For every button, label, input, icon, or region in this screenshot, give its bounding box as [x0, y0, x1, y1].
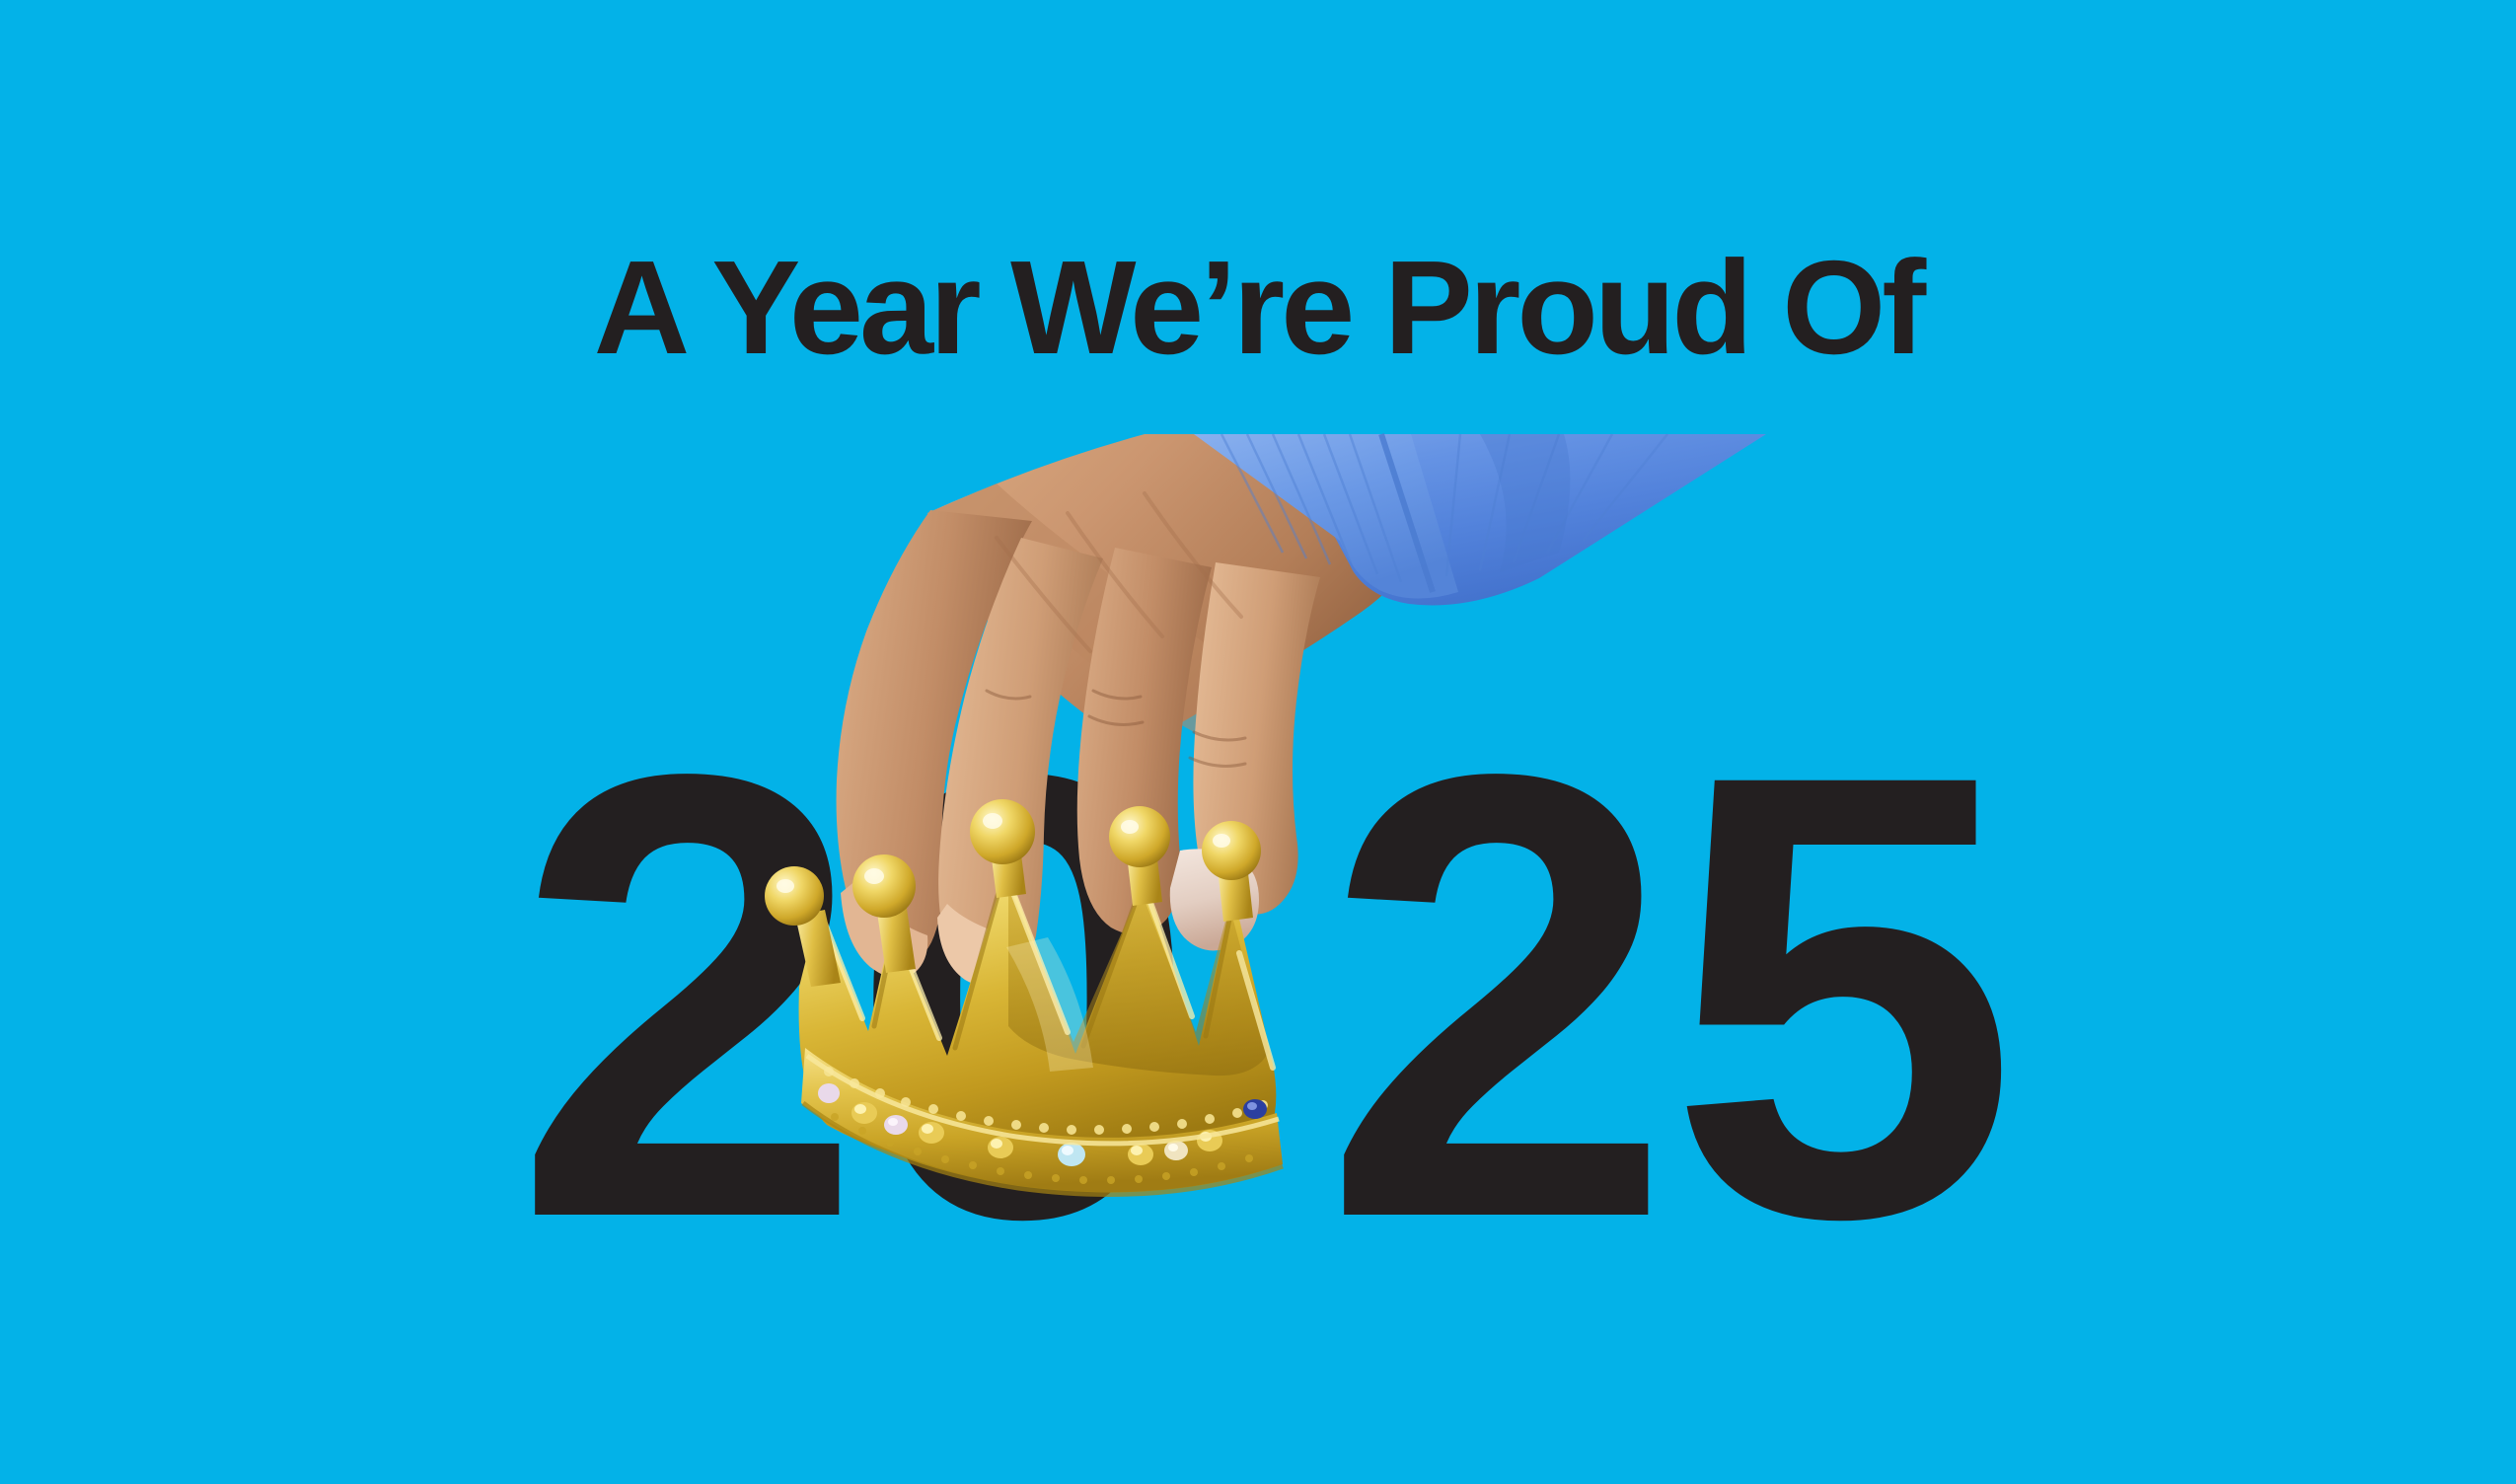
- crown-illustration: [0, 0, 2516, 1484]
- sleeve-cuff-seam: [1381, 434, 1433, 592]
- hand-tendon-lines: [997, 493, 1241, 651]
- hand-icon: [0, 0, 2516, 1484]
- hand-ring-finger: [1193, 562, 1320, 915]
- year-digit-2-second: 2: [1322, 681, 1660, 1312]
- page-title: A Year We’re Proud Of: [0, 241, 2516, 374]
- crown-spike-stem-5: [1218, 864, 1253, 922]
- sleeve-cuff: [1194, 434, 1458, 599]
- sleeve-fold: [1480, 434, 1570, 572]
- shirt-sleeve: [1194, 434, 1766, 606]
- crown-icon: [0, 0, 2516, 1484]
- year-digit-0: 0: [849, 681, 1186, 1312]
- sleeve-fold-shadow: [1337, 434, 1450, 592]
- year-digit-2-first: 2: [513, 681, 851, 1312]
- sleeve-ribbing: [1221, 434, 1667, 582]
- year-digit-5: 5: [1667, 681, 2005, 1312]
- promo-banner: A Year We’re Proud Of 2 0 2 5: [0, 0, 2516, 1484]
- hand-illustration: [0, 0, 2516, 1484]
